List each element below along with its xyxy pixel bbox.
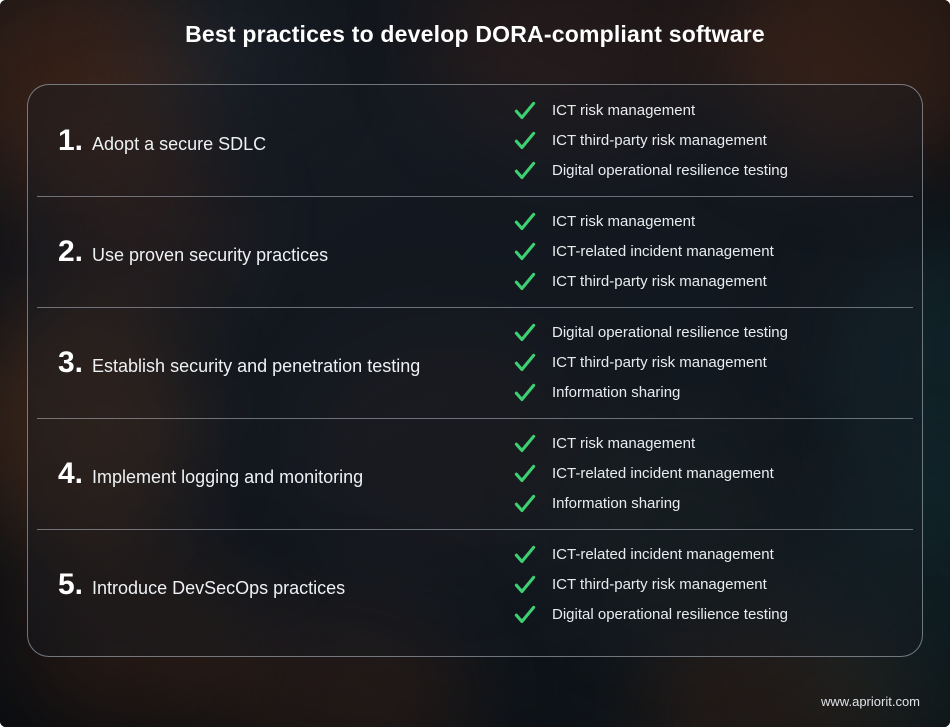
list-item: Information sharing <box>514 383 902 403</box>
list-item-label: ICT risk management <box>552 102 695 120</box>
list-item: ICT risk management <box>514 434 902 454</box>
list-item: ICT-related incident management <box>514 545 902 565</box>
footer-website-url: www.apriorit.com <box>821 694 920 709</box>
check-icon <box>514 545 536 565</box>
list-item: Digital operational resilience testing <box>514 323 902 343</box>
check-icon <box>514 131 536 151</box>
practice-number: 2. <box>58 237 83 267</box>
list-item: ICT third-party risk management <box>514 353 902 373</box>
practice-heading: Use proven security practices <box>92 245 328 266</box>
practices-card: 1.Adopt a secure SDLCICT risk management… <box>27 84 923 657</box>
check-icon <box>514 605 536 625</box>
list-item: ICT-related incident management <box>514 242 902 262</box>
practice-row-left: 5.Introduce DevSecOps practices <box>28 570 514 600</box>
practice-number: 5. <box>58 570 83 600</box>
check-icon <box>514 434 536 454</box>
practice-row-left: 2.Use proven security practices <box>28 237 514 267</box>
list-item-label: ICT risk management <box>552 435 695 453</box>
list-item-label: Digital operational resilience testing <box>552 606 788 624</box>
list-item-label: Information sharing <box>552 495 680 513</box>
list-item: ICT risk management <box>514 212 902 232</box>
check-icon <box>514 161 536 181</box>
check-icon <box>514 353 536 373</box>
practice-row: 4.Implement logging and monitoringICT ri… <box>28 418 922 529</box>
practice-number: 4. <box>58 459 83 489</box>
check-icon <box>514 272 536 292</box>
check-icon <box>514 212 536 232</box>
list-item: Digital operational resilience testing <box>514 605 902 625</box>
list-item: ICT third-party risk management <box>514 575 902 595</box>
infographic-root: Best practices to develop DORA-compliant… <box>0 0 950 727</box>
practice-requirements-list: ICT risk managementICT third-party risk … <box>514 101 922 181</box>
list-item: ICT-related incident management <box>514 464 902 484</box>
practice-requirements-list: ICT risk managementICT-related incident … <box>514 434 922 514</box>
check-icon <box>514 242 536 262</box>
list-item-label: ICT risk management <box>552 213 695 231</box>
practice-number: 3. <box>58 348 83 378</box>
list-item: ICT third-party risk management <box>514 272 902 292</box>
list-item: Digital operational resilience testing <box>514 161 902 181</box>
list-item-label: ICT third-party risk management <box>552 354 767 372</box>
check-icon <box>514 323 536 343</box>
practice-heading: Implement logging and monitoring <box>92 467 363 488</box>
practice-row: 5.Introduce DevSecOps practicesICT-relat… <box>28 529 922 640</box>
list-item-label: ICT third-party risk management <box>552 576 767 594</box>
list-item-label: Digital operational resilience testing <box>552 324 788 342</box>
practice-row: 1.Adopt a secure SDLCICT risk management… <box>28 85 922 196</box>
practice-number: 1. <box>58 126 83 156</box>
check-icon <box>514 575 536 595</box>
practice-row-left: 3.Establish security and penetration tes… <box>28 348 514 378</box>
practice-row-left: 1.Adopt a secure SDLC <box>28 126 514 156</box>
practice-requirements-list: Digital operational resilience testingIC… <box>514 323 922 403</box>
practice-heading: Adopt a secure SDLC <box>92 134 266 155</box>
check-icon <box>514 101 536 121</box>
practice-heading: Introduce DevSecOps practices <box>92 578 345 599</box>
practice-requirements-list: ICT-related incident managementICT third… <box>514 545 922 625</box>
list-item-label: ICT third-party risk management <box>552 132 767 150</box>
list-item-label: ICT-related incident management <box>552 243 774 261</box>
list-item-label: ICT-related incident management <box>552 465 774 483</box>
check-icon <box>514 464 536 484</box>
practice-row: 3.Establish security and penetration tes… <box>28 307 922 418</box>
practice-heading: Establish security and penetration testi… <box>92 356 420 377</box>
list-item-label: Digital operational resilience testing <box>552 162 788 180</box>
list-item-label: ICT-related incident management <box>552 546 774 564</box>
practice-row: 2.Use proven security practicesICT risk … <box>28 196 922 307</box>
practice-requirements-list: ICT risk managementICT-related incident … <box>514 212 922 292</box>
list-item: ICT third-party risk management <box>514 131 902 151</box>
list-item: ICT risk management <box>514 101 902 121</box>
list-item-label: Information sharing <box>552 384 680 402</box>
check-icon <box>514 383 536 403</box>
practice-row-left: 4.Implement logging and monitoring <box>28 459 514 489</box>
check-icon <box>514 494 536 514</box>
list-item-label: ICT third-party risk management <box>552 273 767 291</box>
list-item: Information sharing <box>514 494 902 514</box>
page-title: Best practices to develop DORA-compliant… <box>0 21 950 48</box>
